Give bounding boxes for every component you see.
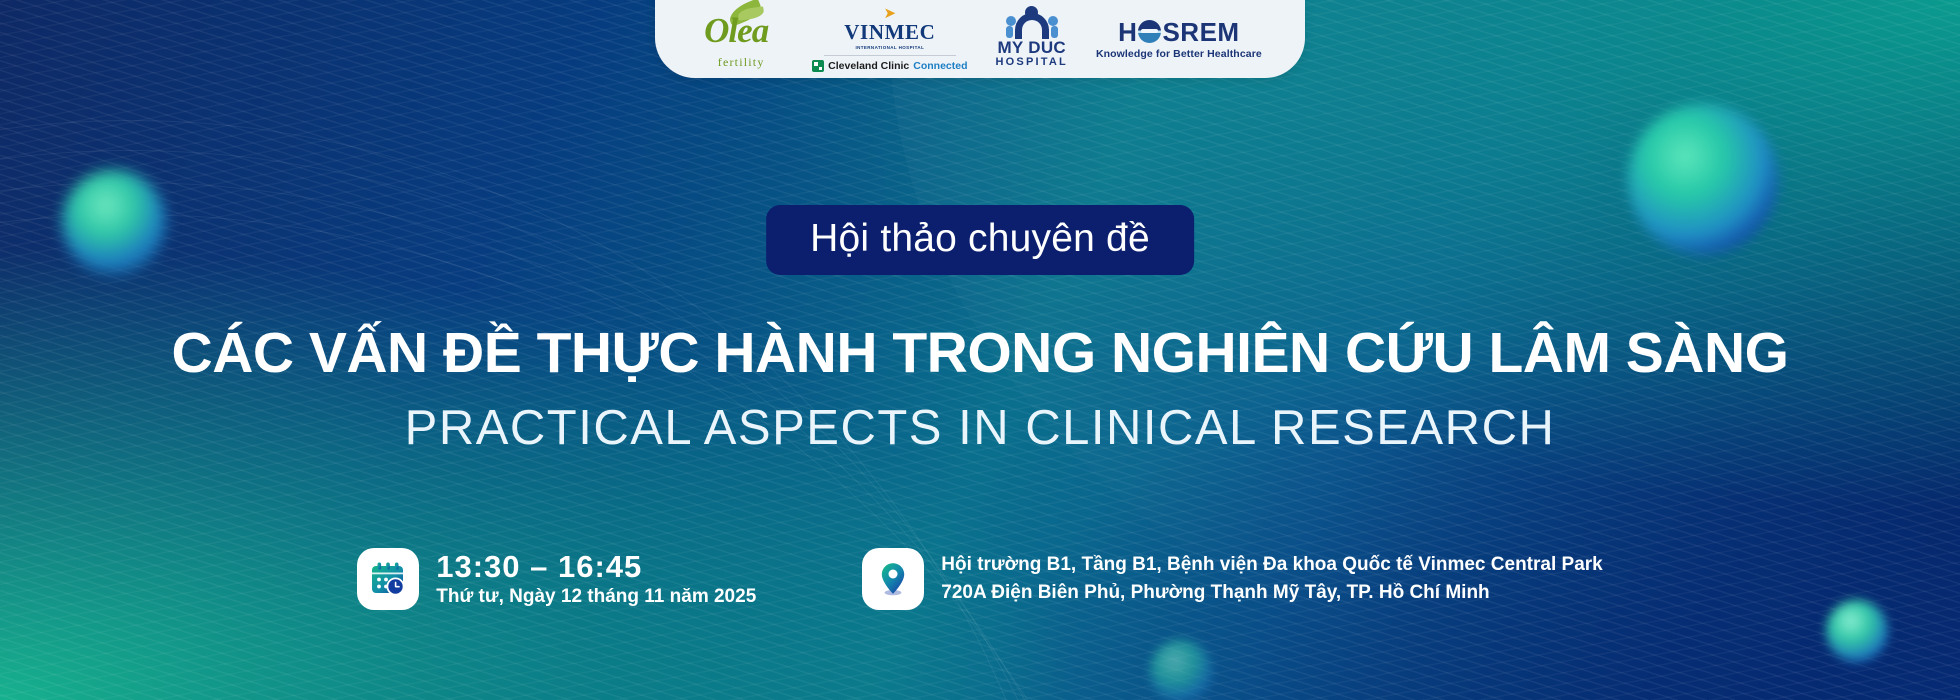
calendar-clock-icon xyxy=(357,548,419,610)
hosrem-tagline: Knowledge for Better Healthcare xyxy=(1096,48,1262,60)
olea-wordmark: Olea xyxy=(704,13,768,48)
glow-orb xyxy=(1628,104,1778,254)
venue-line-2: 720A Điện Biên Phủ, Phường Thạnh Mỹ Tây,… xyxy=(941,579,1602,607)
event-date: Thứ tư, Ngày 12 tháng 11 năm 2025 xyxy=(436,585,756,609)
event-details-row: 13:30 – 16:45 Thứ tư, Ngày 12 tháng 11 n… xyxy=(0,548,1960,610)
olea-mark-icon: Olea xyxy=(698,11,784,55)
divider xyxy=(824,55,956,56)
logo-my-duc: MY DUC HOSPITAL xyxy=(982,0,1082,78)
map-pin-icon xyxy=(862,548,924,610)
event-time-block: 13:30 – 16:45 Thứ tư, Ngày 12 tháng 11 n… xyxy=(357,548,756,610)
connected-label: Connected xyxy=(913,60,967,72)
event-title-english: PRACTICAL ASPECTS IN CLINICAL RESEARCH xyxy=(0,404,1960,453)
hosrem-wordmark-end: SREM xyxy=(1162,19,1239,45)
event-banner: Olea fertility ➤ VINMEC INTERNATIONAL HO… xyxy=(0,0,1960,700)
partner-logo-bar: Olea fertility ➤ VINMEC INTERNATIONAL HO… xyxy=(655,0,1305,78)
cleveland-clinic-label: Cleveland Clinic xyxy=(828,60,909,72)
hosrem-globe-icon xyxy=(1138,20,1161,43)
vinmec-tagline: INTERNATIONAL HOSPITAL xyxy=(855,45,924,50)
my-duc-people-icon xyxy=(1004,9,1060,39)
hosrem-wordmark-start: H xyxy=(1118,19,1137,45)
my-duc-sub: HOSPITAL xyxy=(996,56,1068,69)
olea-subtitle: fertility xyxy=(718,56,765,68)
cleveland-clinic-icon xyxy=(812,60,824,72)
glow-orb xyxy=(62,170,166,274)
glow-orb xyxy=(1150,640,1212,700)
logo-hosrem: H SREM Knowledge for Better Healthcare xyxy=(1082,0,1276,78)
vinmec-bird-icon: ➤ xyxy=(884,6,897,21)
my-duc-name: MY DUC xyxy=(997,39,1066,56)
decorative-arc xyxy=(0,214,1202,700)
event-title-vietnamese: CÁC VẤN ĐỀ THỰC HÀNH TRONG NGHIÊN CỨU LÂ… xyxy=(0,325,1960,382)
cleveland-clinic-connected: Cleveland Clinic Connected xyxy=(812,60,967,72)
event-type-badge: Hội thảo chuyên đề xyxy=(766,205,1194,275)
event-location-block: Hội trường B1, Tầng B1, Bệnh viện Đa kho… xyxy=(862,548,1602,610)
venue-line-1: Hội trường B1, Tầng B1, Bệnh viện Đa kho… xyxy=(941,551,1602,579)
event-time-range: 13:30 – 16:45 xyxy=(436,549,756,585)
logo-olea: Olea fertility xyxy=(684,0,798,78)
vinmec-wordmark: VINMEC xyxy=(844,22,935,43)
logo-vinmec: ➤ VINMEC INTERNATIONAL HOSPITAL Clevelan… xyxy=(798,0,981,78)
